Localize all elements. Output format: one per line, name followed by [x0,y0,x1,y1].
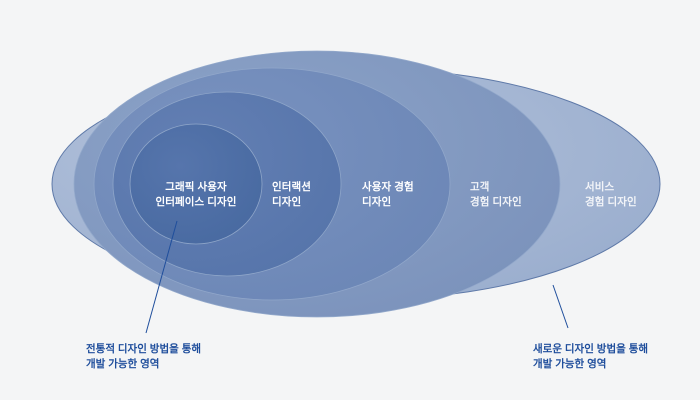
ring-label-ux-line1: 사용자 경험 [362,180,414,193]
ring-label-gui-line1: 그래픽 사용자 [165,180,227,193]
callout-traditional-area: 전통적 디자인 방법을 통해 개발 가능한 영역 [86,342,201,370]
callout-traditional-line1: 전통적 디자인 방법을 통해 [86,342,201,355]
ring-label-gui-line2: 인터페이스 디자인 [155,195,236,208]
ring-label-service-line1: 서비스 [585,180,615,193]
ring-label-interaction-line2: 디자인 [272,195,301,208]
diagram-canvas: 그래픽 사용자 인터페이스 디자인 인터랙션 디자인 사용자 경험 디자인 고객… [0,0,700,400]
callout-new-method-area: 새로운 디자인 방법을 통해 개발 가능한 영역 [533,342,648,370]
callout-traditional-line2: 개발 가능한 영역 [86,357,159,370]
nested-ellipse-diagram: 그래픽 사용자 인터페이스 디자인 인터랙션 디자인 사용자 경험 디자인 고객… [0,0,700,400]
ring-label-interaction-line1: 인터랙션 [272,180,311,193]
ring-label-cx-line1: 고객 [470,180,490,193]
leader-line-new-method-area [553,285,568,328]
ring-label-ux-line2: 디자인 [362,195,391,208]
ring-label-service-line2: 경험 디자인 [585,195,637,208]
callout-new-method-line2: 개발 가능한 영역 [533,357,606,370]
ring-label-cx-line2: 경험 디자인 [470,195,522,208]
callout-new-method-line1: 새로운 디자인 방법을 통해 [533,342,648,355]
